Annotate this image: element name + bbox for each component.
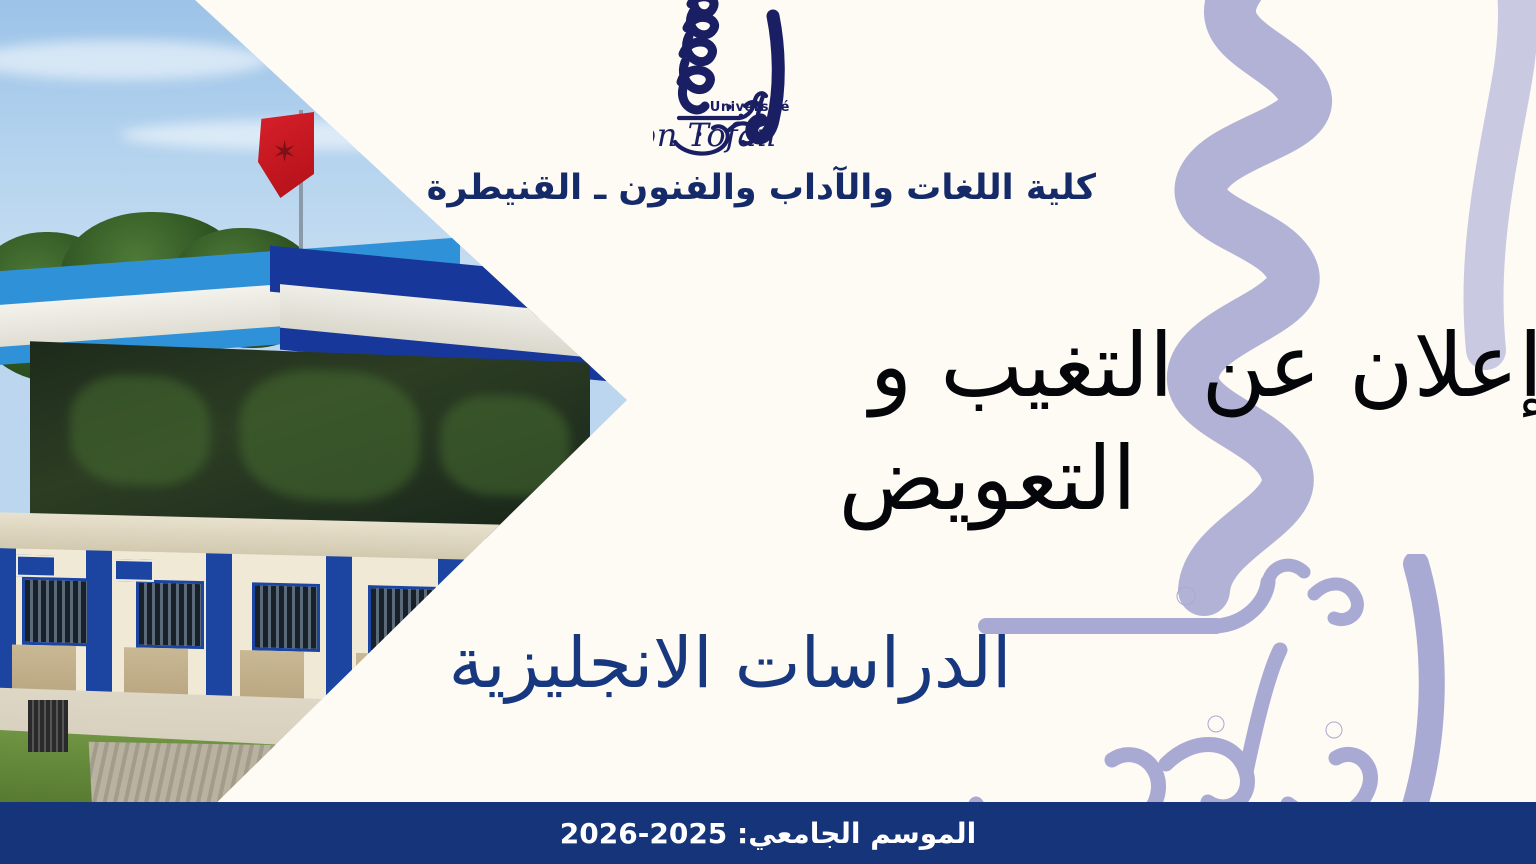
flag-star: ✶ (272, 138, 297, 168)
pillar (206, 553, 232, 704)
footer-bar: الموسم الجامعي: 2025-2026 (0, 802, 1536, 864)
announcement-poster: ✶ (0, 0, 1536, 864)
window (136, 580, 204, 650)
door-sign (114, 559, 154, 582)
program-subtitle: الدراسات الانجليزية (300, 625, 1160, 702)
page-title-line-1: إعلان عن التغيب و (560, 310, 1536, 423)
window (22, 577, 90, 647)
page-title: إعلان عن التغيب و التعويض (560, 310, 1536, 535)
door-sign (16, 555, 56, 578)
university-logo: Université bn Tofaïl (653, 0, 883, 170)
svg-text:Université: Université (710, 100, 790, 115)
page-title-line-2: التعويض (560, 423, 1536, 536)
paved-walkway (89, 742, 452, 803)
glass-facade (30, 341, 590, 543)
svg-text:bn Tofaïl: bn Tofaïl (653, 116, 777, 154)
academic-year-label: الموسم الجامعي: 2025-2026 (560, 817, 976, 850)
trash-bin (28, 700, 68, 752)
faculty-name: كلية اللغات والآداب والفنون ـ القنيطرة (0, 168, 1112, 208)
